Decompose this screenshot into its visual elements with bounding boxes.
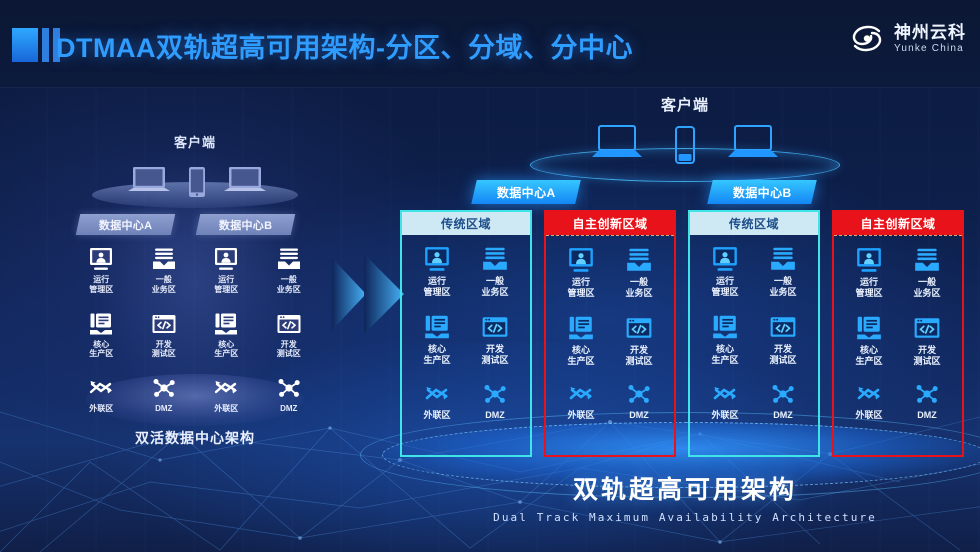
arrows-exchange-icon [855,381,883,407]
laptop-icon [222,164,268,198]
zone-label: DMZ [773,410,793,421]
inbox-stack-icon [151,246,177,272]
zone-item[interactable]: 核心生产区 [696,313,754,381]
laptop-icon [590,124,644,164]
zone-label: 核心生产区 [855,345,882,367]
zone-column-header: 传统区域 [402,212,530,235]
legacy-architecture-caption: 双活数据中心架构 [70,428,320,448]
zone-item[interactable]: 运行管理区 [408,245,466,313]
zone-columns: 传统区域 运行管理区 [400,210,970,457]
zone-label: 外联区 [423,410,450,421]
zone-label: 开发测试区 [625,345,652,367]
zone-item[interactable]: 核心生产区 [408,313,466,381]
zone-label: 开发测试区 [769,344,796,366]
zone-item[interactable]: 核心生产区 [840,314,898,382]
zone-column-innovation-b[interactable]: 自主创新区域 运行管理区 [832,210,964,457]
zone-label: DMZ [629,410,649,421]
node-network-icon [769,381,797,407]
zone-label: 一般业务区 [277,275,301,295]
tablet-icon [188,166,206,198]
laptop-icon [126,164,172,198]
legacy-zone-grid: 运行管理区 一般业务区 [70,246,320,414]
server-doc-icon [213,311,239,337]
chevron-icon [332,258,366,330]
monitor-person-icon [567,246,595,274]
zone-item[interactable]: 外联区 [552,381,610,449]
legacy-datacenter-a-label: 数据中心A [99,217,152,233]
zone-column-header: 自主创新区域 [546,212,674,235]
zone-label: 外联区 [89,404,113,414]
zone-item[interactable]: DMZ [133,375,196,414]
legacy-datacenter-b-chip[interactable]: 数据中心B [196,214,295,235]
zone-label: 开发测试区 [277,340,301,360]
zone-label: 一般业务区 [152,275,176,295]
zone-item[interactable]: 外联区 [696,381,754,449]
legacy-datacenter-a-chip[interactable]: 数据中心A [76,214,175,235]
inbox-stack-icon [913,246,941,274]
zone-item[interactable]: 一般业务区 [466,245,524,313]
datacenter-a-chip[interactable]: 数据中心A [471,180,581,204]
arrows-exchange-icon [423,381,451,407]
zone-label: 运行管理区 [855,277,882,299]
legacy-datacenter-b-zones: 运行管理区 一般业务区 [195,246,320,414]
inbox-stack-icon [276,246,302,272]
code-window-icon [481,313,509,341]
zone-item[interactable]: 一般业务区 [754,245,812,313]
zone-column-body: 运行管理区 一般业务区 [402,235,530,455]
zone-column-body: 运行管理区 一般业务区 [690,235,818,455]
zone-item[interactable]: DMZ [258,375,321,414]
zone-item[interactable]: 运行管理区 [195,246,258,295]
zone-label: DMZ [917,410,937,421]
zone-item[interactable]: 一般业务区 [898,246,956,314]
zone-column-body: 运行管理区 一般业务区 [834,235,962,455]
monitor-person-icon [88,246,114,272]
zone-item[interactable]: 开发测试区 [898,314,956,382]
code-window-icon [625,314,653,342]
datacenter-b-chip[interactable]: 数据中心B [707,180,817,204]
zone-label: 核心生产区 [89,340,113,360]
zone-label: 运行管理区 [423,276,450,298]
header-accent-marks [12,28,60,62]
server-doc-icon [423,313,451,341]
legacy-architecture-panel: 客户端 数据中心A 数据中心B [70,96,320,456]
server-doc-icon [855,314,883,342]
zone-item[interactable]: DMZ [754,381,812,449]
zone-item[interactable]: 一般业务区 [133,246,196,295]
node-network-icon [481,381,509,407]
page-title: DTMAA双轨超高可用架构-分区、分域、分中心 [56,26,633,65]
zone-label: 外联区 [855,410,882,421]
accent-bar-wide [12,28,38,62]
zone-item[interactable]: 运行管理区 [840,246,898,314]
zone-label: 运行管理区 [89,275,113,295]
legacy-client-label: 客户端 [70,132,320,151]
zone-label: 运行管理区 [711,276,738,298]
server-doc-icon [711,313,739,341]
zone-item[interactable]: 开发测试区 [466,313,524,381]
chevron-icon [364,254,404,334]
zone-label: 外联区 [214,404,238,414]
bottom-title-en: Dual Track Maximum Availability Architec… [400,511,970,524]
datacenter-a-label: 数据中心A [497,184,556,201]
zone-label: DMZ [280,404,297,414]
zone-label: 一般业务区 [481,276,508,298]
zone-label: 一般业务区 [913,277,940,299]
arrows-exchange-icon [567,381,595,407]
zone-item[interactable]: 开发测试区 [133,311,196,360]
zone-item[interactable]: 开发测试区 [258,311,321,360]
zone-item[interactable]: 核心生产区 [552,314,610,382]
server-doc-icon [567,314,595,342]
slide-canvas: DTMAA双轨超高可用架构-分区、分域、分中心 神州云科 Yunke China… [0,0,980,552]
dual-track-architecture-panel: 客户端 数据中心A 数据中心B 传统区域 [400,86,970,506]
zone-item[interactable]: DMZ [466,381,524,449]
zone-label: 一般业务区 [625,277,652,299]
zone-item[interactable]: 外联区 [195,375,258,414]
code-window-icon [151,311,177,337]
monitor-person-icon [423,245,451,273]
zone-item[interactable]: 外联区 [70,375,133,414]
accent-bar-thin-1 [42,28,49,62]
zone-item[interactable]: DMZ [898,381,956,449]
zone-label: 开发测试区 [152,340,176,360]
arrows-exchange-icon [88,375,114,401]
arrows-exchange-icon [711,381,739,407]
laptop-icon [726,124,780,164]
inbox-stack-icon [625,246,653,274]
zone-item[interactable]: 开发测试区 [610,314,668,382]
zone-label: 开发测试区 [913,345,940,367]
zone-item[interactable]: 运行管理区 [696,245,754,313]
tablet-icon [674,126,696,164]
zone-label: 运行管理区 [214,275,238,295]
code-window-icon [769,313,797,341]
node-network-icon [913,381,941,407]
inbox-stack-icon [769,245,797,273]
legacy-datacenter-a-zones: 运行管理区 一般业务区 [70,246,195,414]
client-label: 客户端 [400,94,970,115]
zone-label: DMZ [155,404,172,414]
zone-label: 运行管理区 [567,277,594,299]
zone-item[interactable]: 外联区 [840,381,898,449]
zone-item[interactable]: 一般业务区 [610,246,668,314]
zone-label: 核心生产区 [214,340,238,360]
zone-item[interactable]: DMZ [610,381,668,449]
client-devices [545,118,825,164]
legacy-client-devices [112,156,282,198]
zone-column-innovation-a[interactable]: 自主创新区域 运行管理区 [544,210,676,457]
logo-name-cn: 神州云科 [894,24,966,42]
legacy-datacenter-b-label: 数据中心B [219,217,272,233]
zone-column-traditional-b[interactable]: 传统区域 运行管理区 [688,210,820,457]
zone-item[interactable]: 运行管理区 [70,246,133,295]
arrows-exchange-icon [213,375,239,401]
brand-logo: 神州云科 Yunke China [849,22,966,56]
zone-label: 外联区 [567,410,594,421]
zone-item[interactable]: 外联区 [408,381,466,449]
node-network-icon [276,375,302,401]
zone-label: 外联区 [711,410,738,421]
monitor-person-icon [711,245,739,273]
monitor-person-icon [855,246,883,274]
zone-label: 一般业务区 [769,276,796,298]
zone-label: 开发测试区 [481,344,508,366]
bottom-title: 双轨超高可用架构 Dual Track Maximum Availability… [400,470,970,524]
zone-label: 核心生产区 [567,345,594,367]
zone-item[interactable]: 核心生产区 [195,311,258,360]
zone-label: 核心生产区 [711,344,738,366]
zone-column-body: 运行管理区 一般业务区 [546,235,674,455]
zone-item[interactable]: 核心生产区 [70,311,133,360]
zone-column-header: 自主创新区域 [834,212,962,235]
header-bar: DTMAA双轨超高可用架构-分区、分域、分中心 神州云科 Yunke China [0,0,980,88]
zone-label: 核心生产区 [423,344,450,366]
zone-item[interactable]: 运行管理区 [552,246,610,314]
code-window-icon [913,314,941,342]
monitor-person-icon [213,246,239,272]
datacenter-b-label: 数据中心B [733,184,792,201]
galaxy-spiral-icon [849,22,885,56]
zone-item[interactable]: 开发测试区 [754,313,812,381]
zone-column-traditional-a[interactable]: 传统区域 运行管理区 [400,210,532,457]
bottom-title-cn: 双轨超高可用架构 [400,470,970,506]
node-network-icon [151,375,177,401]
inbox-stack-icon [481,245,509,273]
zone-label: DMZ [485,410,505,421]
server-doc-icon [88,311,114,337]
zone-column-header: 传统区域 [690,212,818,235]
logo-name-en: Yunke China [894,44,966,55]
code-window-icon [276,311,302,337]
zone-item[interactable]: 一般业务区 [258,246,321,295]
node-network-icon [625,381,653,407]
